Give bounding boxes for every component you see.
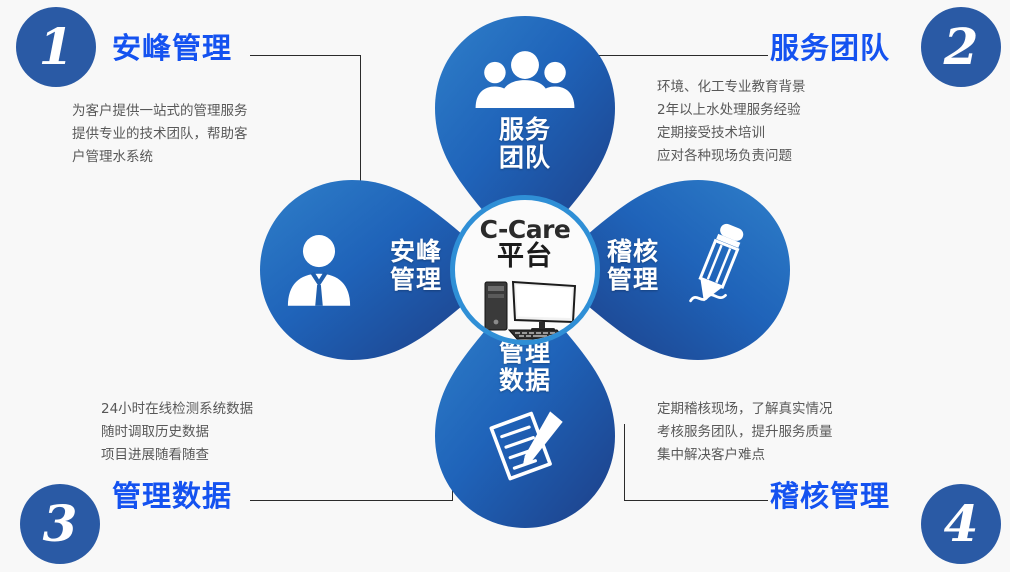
petal-service-team-line-1: 服务 bbox=[435, 116, 615, 144]
section-body-1: 为客户提供一站式的管理服务 提供专业的技术团队，帮助客 户管理水系统 bbox=[72, 100, 248, 169]
infographic-canvas: 1 2 3 4 安峰管理 服务团队 管理数据 稽核管理 为客户提供一站式的管理服… bbox=[0, 0, 1010, 572]
badge-number-1-label: 1 bbox=[39, 22, 74, 72]
section-body-3: 24小时在线检测系统数据 随时调取历史数据 项目进展随看随查 bbox=[101, 398, 253, 467]
badge-number-4-label: 4 bbox=[944, 499, 979, 549]
badge-number-1: 1 bbox=[16, 7, 96, 87]
petal-service-team-label: 服务 团队 bbox=[435, 116, 615, 172]
flower-diagram: 服务 团队 管理 数据 bbox=[260, 12, 790, 532]
section-body-3-line-1: 24小时在线检测系统数据 bbox=[101, 398, 253, 421]
section-body-1-line-3: 户管理水系统 bbox=[72, 146, 248, 169]
businessman-icon bbox=[286, 232, 352, 306]
petal-service-team-line-2: 团队 bbox=[435, 144, 615, 172]
section-body-3-line-3: 项目进展随看随查 bbox=[101, 444, 253, 467]
center-hub-platform: 平台 bbox=[497, 243, 553, 271]
section-body-1-line-2: 提供专业的技术团队，帮助客 bbox=[72, 123, 248, 146]
section-body-3-line-2: 随时调取历史数据 bbox=[101, 421, 253, 444]
people-group-icon bbox=[471, 50, 579, 108]
badge-number-4: 4 bbox=[921, 484, 1001, 564]
clipboard-pencil-icon bbox=[485, 403, 569, 487]
badge-number-2-label: 2 bbox=[944, 22, 979, 72]
badge-number-3: 3 bbox=[20, 484, 100, 564]
petal-management-data-line-2: 数据 bbox=[435, 367, 615, 395]
badge-number-2: 2 bbox=[921, 7, 1001, 87]
section-title-3: 管理数据 bbox=[112, 473, 232, 515]
desktop-computer-icon bbox=[483, 278, 579, 340]
center-hub[interactable]: C-Care 平台 bbox=[450, 195, 600, 345]
section-body-1-line-1: 为客户提供一站式的管理服务 bbox=[72, 100, 248, 123]
badge-number-3-label: 3 bbox=[43, 499, 78, 549]
section-title-1: 安峰管理 bbox=[112, 25, 232, 67]
center-hub-brand: C-Care bbox=[480, 217, 571, 242]
pencil-icon bbox=[683, 220, 757, 310]
